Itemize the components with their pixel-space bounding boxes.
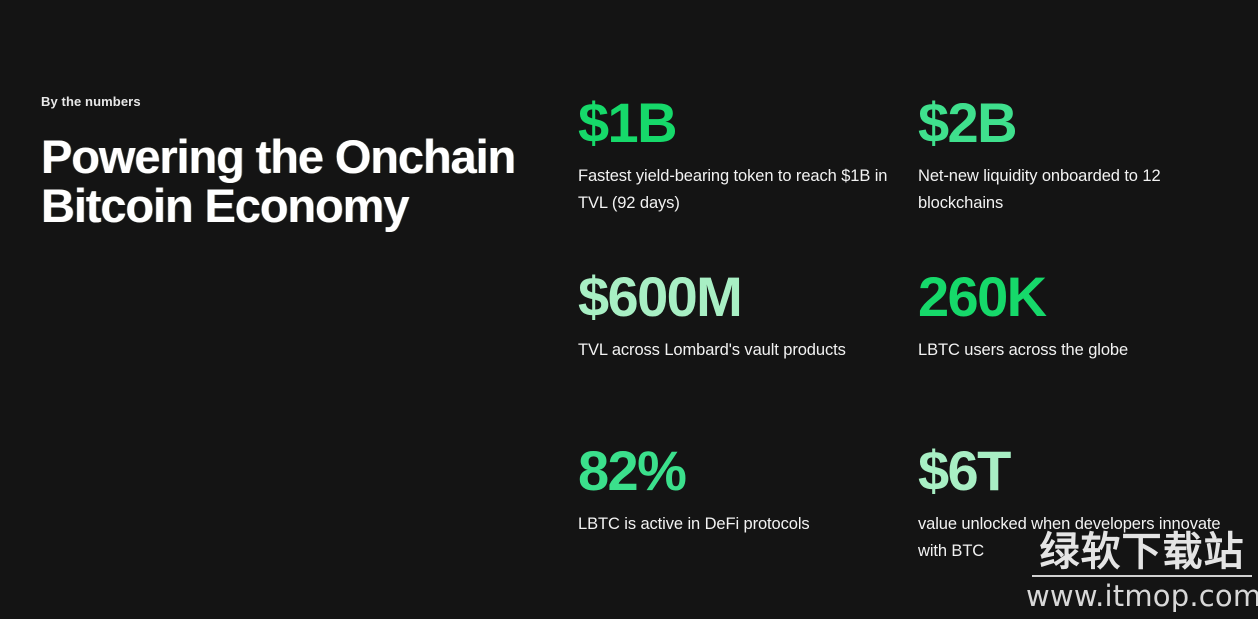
stat-description: LBTC users across the globe (918, 337, 1230, 364)
stat-card: $1B Fastest yield-bearing token to reach… (578, 93, 918, 267)
stats-grid: $1B Fastest yield-bearing token to reach… (578, 93, 1238, 615)
page-title: Powering the Onchain Bitcoin Economy (41, 132, 561, 230)
stat-card: 260K LBTC users across the globe (918, 267, 1238, 441)
stat-value: $2B (918, 93, 1238, 153)
stat-description: Net-new liquidity onboarded to 12 blockc… (918, 163, 1218, 217)
stat-value: 260K (918, 267, 1238, 327)
stat-value: $600M (578, 267, 918, 327)
stat-description: value unlocked when developers innovate … (918, 511, 1230, 565)
stat-description: Fastest yield-bearing token to reach $1B… (578, 163, 890, 217)
stat-description: LBTC is active in DeFi protocols (578, 511, 890, 538)
stat-card: $6T value unlocked when developers innov… (918, 441, 1238, 615)
stat-card: $2B Net-new liquidity onboarded to 12 bl… (918, 93, 1238, 267)
stat-value: $6T (918, 441, 1238, 501)
stat-value: $1B (578, 93, 918, 153)
stat-description: TVL across Lombard's vault products (578, 337, 890, 364)
eyebrow-label: By the numbers (41, 94, 561, 110)
page-title-line-2: Bitcoin Economy (41, 181, 561, 230)
slide-root: By the numbers Powering the Onchain Bitc… (0, 0, 1258, 619)
intro-block: By the numbers Powering the Onchain Bitc… (41, 94, 561, 230)
stat-value: 82% (578, 441, 918, 501)
stat-card: $600M TVL across Lombard's vault product… (578, 267, 918, 441)
page-title-line-1: Powering the Onchain (41, 132, 561, 181)
stat-card: 82% LBTC is active in DeFi protocols (578, 441, 918, 615)
